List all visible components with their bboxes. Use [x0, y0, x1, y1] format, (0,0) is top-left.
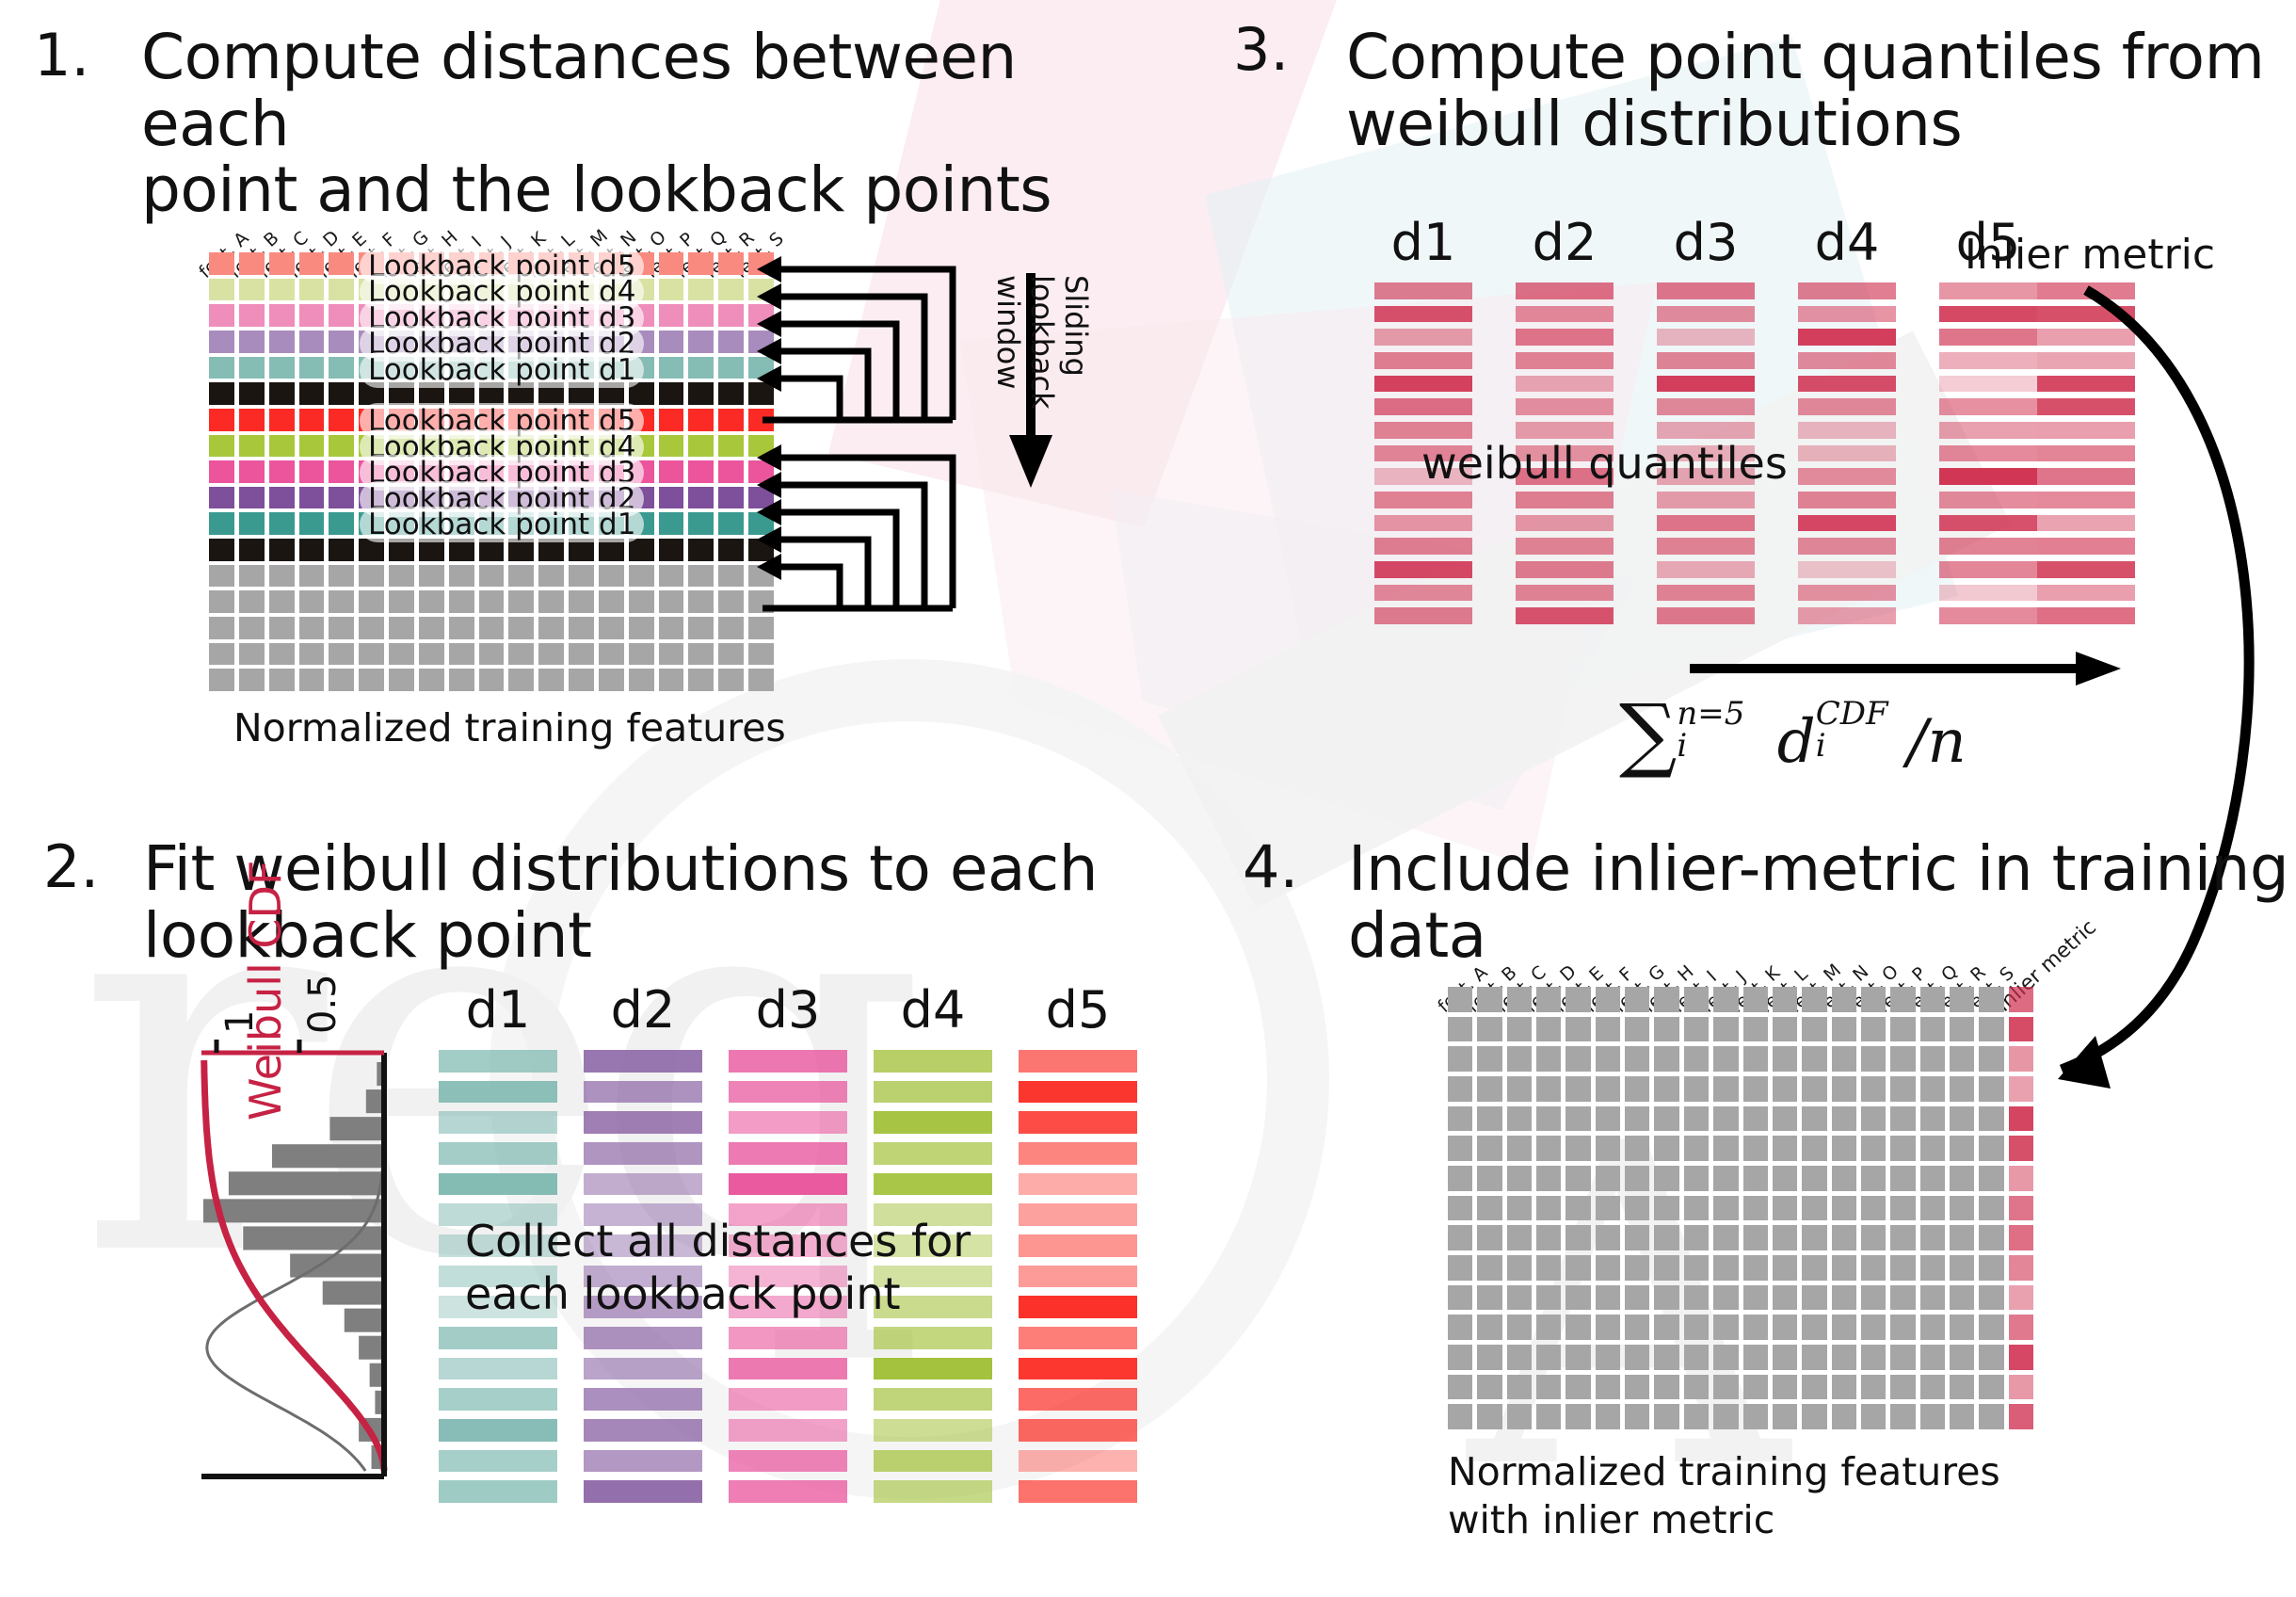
grid-cell	[329, 435, 354, 458]
grid-cell	[329, 617, 354, 639]
lookback-point-tag: Lookback point d1	[360, 352, 644, 388]
quantile-bar	[1939, 515, 2037, 532]
quantile-bar	[1374, 515, 1472, 532]
grid-cell	[659, 252, 684, 275]
grid-cell	[538, 565, 564, 588]
grid-cell	[269, 590, 295, 613]
step-3-number: 3.	[1233, 21, 1289, 79]
grid-cell	[299, 304, 325, 327]
grid-cell	[718, 669, 744, 691]
grid-cell	[479, 590, 505, 613]
grid-cell	[1979, 1285, 2003, 1311]
grid-cell	[1743, 1345, 1768, 1370]
weibull-cdf-axis-label: Weibull CDF	[240, 861, 291, 1121]
quantile-bar	[1657, 492, 1755, 508]
quantile-bar	[1516, 398, 1614, 415]
grid-cell	[1477, 1076, 1501, 1102]
quantile-bar	[1939, 561, 2037, 578]
grid-cell	[1565, 987, 1590, 1012]
sum-upper-limit: n=5	[1677, 698, 1744, 730]
grid-cell	[1684, 1166, 1709, 1191]
quantile-bar	[1374, 329, 1472, 346]
grid-cell	[1565, 1315, 1590, 1340]
distance-bar	[1019, 1203, 1137, 1226]
grid-cell	[329, 279, 354, 301]
quantile-bar	[1516, 376, 1614, 393]
quantile-column-label-d2: d2	[1516, 213, 1614, 272]
quantile-bar	[1798, 445, 1896, 462]
grid-cell	[629, 669, 654, 691]
distance-bar	[1019, 1234, 1137, 1257]
grid-cell	[1802, 1255, 1826, 1281]
grid-cell	[239, 279, 265, 301]
grid-cell	[1625, 1225, 1649, 1250]
grid-cell	[1654, 1404, 1678, 1429]
grid-cell	[1507, 1375, 1532, 1400]
panel1-caption-line-1: Normalized training features	[233, 704, 817, 752]
quantile-bar	[1374, 561, 1472, 578]
quantile-bar	[1939, 352, 2037, 369]
grid-cell	[688, 487, 714, 509]
grid-cell	[1625, 1106, 1649, 1132]
inlier-metric-cell	[2009, 1017, 2033, 1042]
grid-cell	[1448, 1046, 1472, 1072]
grid-cell	[1477, 987, 1501, 1012]
quantile-bar	[1798, 607, 1896, 624]
grid-cell	[1920, 1136, 1945, 1161]
quantile-column-d4	[1798, 282, 1896, 631]
grid-cell	[1477, 1196, 1501, 1221]
grid-cell	[239, 435, 265, 458]
grid-cell	[1565, 1404, 1590, 1429]
distance-bar	[584, 1450, 702, 1473]
grid-cell	[1802, 1315, 1826, 1340]
grid-cell	[1773, 1285, 1797, 1311]
grid-cell	[1448, 1017, 1472, 1042]
grid-cell	[1890, 1136, 1915, 1161]
grid-cell	[299, 565, 325, 588]
grid-cell	[1920, 1255, 1945, 1281]
distance-bar	[439, 1081, 557, 1104]
grid-cell	[1448, 1076, 1472, 1102]
grid-cell	[688, 590, 714, 613]
grid-cell	[269, 617, 295, 639]
grid-cell	[1773, 1017, 1797, 1042]
grid-cell	[718, 435, 744, 458]
grid-cell	[299, 382, 325, 405]
grid-cell	[1890, 1315, 1915, 1340]
grid-cell	[449, 643, 474, 666]
grid-cell	[239, 669, 265, 691]
grid-cell	[659, 512, 684, 535]
grid-cell	[209, 590, 234, 613]
grid-cell	[1979, 1345, 2003, 1370]
grid-cell	[1832, 1375, 1856, 1400]
grid-cell	[1477, 1017, 1501, 1042]
quantile-column-d5	[1939, 282, 2037, 631]
grid-cell	[1890, 1106, 1915, 1132]
grid-cell	[1890, 1225, 1915, 1250]
grid-cell	[389, 643, 414, 666]
quantile-bar	[1798, 329, 1896, 346]
quantile-bar	[1657, 376, 1755, 393]
panel2-overlay-line-1: Collect all distances for	[465, 1215, 971, 1267]
quantile-bar	[1939, 468, 2037, 485]
grid-cell	[629, 617, 654, 639]
grid-cell	[1536, 1046, 1561, 1072]
grid-cell	[299, 252, 325, 275]
step-3-title-line-1: Compute point quantiles from	[1346, 24, 2288, 91]
grid-cell	[269, 331, 295, 353]
grid-cell	[1950, 1255, 1974, 1281]
distance-bar	[1019, 1327, 1137, 1349]
sliding-window-label-line-3: window	[991, 275, 1025, 410]
grid-cell	[1625, 1196, 1649, 1221]
grid-cell	[1979, 1046, 2003, 1072]
formula-tail: /n	[1907, 707, 1967, 777]
grid-cell	[1713, 1076, 1738, 1102]
grid-cell	[299, 617, 325, 639]
grid-cell	[1832, 1225, 1856, 1250]
grid-cell	[1596, 1255, 1620, 1281]
grid-cell	[1802, 1404, 1826, 1429]
inlier-metric-cell	[2009, 1196, 2033, 1221]
inlier-metric-cell	[2009, 1375, 2033, 1400]
grid-cell	[1802, 1345, 1826, 1370]
grid-cell	[1979, 1315, 2003, 1340]
grid-cell	[1654, 1017, 1678, 1042]
quantile-bar	[1374, 398, 1472, 415]
grid-cell	[1890, 987, 1915, 1012]
quantile-bar	[1939, 329, 2037, 346]
inlier-metric-cell	[2009, 1404, 2033, 1429]
grid-cell	[299, 331, 325, 353]
grid-cell	[1713, 1404, 1738, 1429]
grid-cell	[1890, 1375, 1915, 1400]
distance-bar	[729, 1358, 847, 1380]
grid-cell	[329, 565, 354, 588]
grid-cell	[1507, 1076, 1532, 1102]
histogram-bar	[345, 1309, 384, 1332]
grid-cell	[508, 669, 534, 691]
quantile-bar	[1374, 492, 1472, 508]
quantile-column-label-d1: d1	[1374, 213, 1472, 272]
inlier-metric-cell	[2009, 1255, 2033, 1281]
grid-cell	[299, 512, 325, 535]
grid-cell	[1861, 1225, 1886, 1250]
grid-cell	[1596, 1076, 1620, 1102]
grid-cell	[1684, 1345, 1709, 1370]
grid-cell	[1713, 1046, 1738, 1072]
column-label-d5: d5	[1019, 980, 1137, 1040]
grid-cell	[329, 382, 354, 405]
quantile-bar	[1516, 538, 1614, 555]
grid-cell	[1920, 1225, 1945, 1250]
grid-cell	[1536, 987, 1561, 1012]
grid-cell	[1890, 1046, 1915, 1072]
grid-cell	[718, 409, 744, 431]
grid-cell	[1861, 1375, 1886, 1400]
grid-cell	[299, 435, 325, 458]
grid-cell	[329, 539, 354, 561]
panel2-overlay-line-2: each lookback point	[465, 1267, 971, 1320]
grid-cell	[329, 409, 354, 431]
quantile-bar	[1657, 306, 1755, 323]
grid-cell	[659, 487, 684, 509]
inlier-metric-cell	[2009, 1106, 2033, 1132]
grid-cell	[1684, 1255, 1709, 1281]
grid-cell	[1625, 1285, 1649, 1311]
distance-bar	[439, 1480, 557, 1503]
distance-bar	[1019, 1266, 1137, 1288]
grid-cell	[1654, 1375, 1678, 1400]
distance-bar	[584, 1419, 702, 1442]
inlier-metric-cell	[2009, 1285, 2033, 1311]
grid-cell	[1890, 1404, 1915, 1429]
grid-cell	[1832, 1046, 1856, 1072]
grid-cell	[659, 669, 684, 691]
grid-cell	[1684, 1017, 1709, 1042]
grid-cell	[718, 643, 744, 666]
grid-cell	[1536, 1017, 1561, 1042]
quantile-bar	[1516, 585, 1614, 602]
grid-cell	[1713, 1166, 1738, 1191]
histogram-bar	[323, 1282, 384, 1305]
grid-cell	[1920, 1076, 1945, 1102]
grid-cell	[269, 279, 295, 301]
panel4-caption-line-1: Normalized training features	[1448, 1448, 2107, 1496]
grid-cell	[1743, 1106, 1768, 1132]
grid-cell	[1596, 1375, 1620, 1400]
grid-cell	[1507, 1285, 1532, 1311]
grid-cell	[1861, 987, 1886, 1012]
quantile-bar	[1798, 468, 1896, 485]
grid-cell	[718, 252, 744, 275]
grid-cell	[1565, 1106, 1590, 1132]
grid-cell	[538, 617, 564, 639]
quantile-bar	[1798, 352, 1896, 369]
grid-cell	[1448, 1136, 1472, 1161]
grid-cell	[718, 565, 744, 588]
grid-cell	[1565, 1196, 1590, 1221]
grid-cell	[1890, 1076, 1915, 1102]
grid-cell	[1713, 1285, 1738, 1311]
grid-cell	[209, 565, 234, 588]
distance-bar	[729, 1142, 847, 1165]
grid-cell	[209, 252, 234, 275]
grid-cell	[239, 487, 265, 509]
panel4-caption: Normalized training featureswith inlier …	[1448, 1448, 2107, 1545]
grid-cell	[1890, 1017, 1915, 1042]
grid-cell	[688, 252, 714, 275]
grid-cell	[1950, 1225, 1974, 1250]
distance-bar	[874, 1358, 992, 1380]
distance-bar	[874, 1327, 992, 1349]
grid-cell	[1832, 1285, 1856, 1311]
grid-cell	[1713, 987, 1738, 1012]
grid-cell	[299, 669, 325, 691]
quantile-bar	[1657, 585, 1755, 602]
inlier-metric-cell	[2009, 1315, 2033, 1340]
distance-bar	[584, 1081, 702, 1104]
grid-cell	[1979, 1076, 2003, 1102]
quantile-bar	[1657, 561, 1755, 578]
quantile-bar	[1657, 538, 1755, 555]
grid-cell	[1565, 1017, 1590, 1042]
grid-cell	[1890, 1196, 1915, 1221]
grid-cell	[569, 565, 594, 588]
inlier-metric-cell	[2009, 1225, 2033, 1250]
grid-cell	[209, 331, 234, 353]
panel4-feature-grid	[1448, 987, 2033, 1429]
grid-cell	[1565, 1255, 1590, 1281]
grid-cell	[659, 565, 684, 588]
quantile-bar	[1939, 445, 2037, 462]
grid-cell	[688, 435, 714, 458]
grid-cell	[449, 617, 474, 639]
grid-cell	[538, 669, 564, 691]
grid-cell	[1979, 1255, 2003, 1281]
grid-cell	[1507, 1136, 1532, 1161]
quantile-bar	[1657, 329, 1755, 346]
grid-cell	[1950, 1404, 1974, 1429]
quantile-bar	[1939, 398, 2037, 415]
distance-bar	[729, 1419, 847, 1442]
grid-cell	[299, 409, 325, 431]
grid-cell	[389, 565, 414, 588]
grid-cell	[1684, 1315, 1709, 1340]
grid-cell	[329, 590, 354, 613]
grid-cell	[1684, 1136, 1709, 1161]
grid-cell	[239, 539, 265, 561]
distance-column-d5	[1019, 1050, 1137, 1511]
grid-cell	[1565, 1076, 1590, 1102]
grid-cell	[688, 460, 714, 483]
distance-bar	[874, 1050, 992, 1073]
grid-cell	[1654, 1315, 1678, 1340]
distance-bar	[1019, 1081, 1137, 1104]
grid-cell	[209, 669, 234, 691]
step-3-title-line-2: weibull distributions	[1346, 91, 2288, 158]
grid-cell	[239, 382, 265, 405]
distance-bar	[874, 1450, 992, 1473]
grid-cell	[569, 643, 594, 666]
grid-cell	[299, 279, 325, 301]
grid-cell	[239, 304, 265, 327]
grid-cell	[299, 539, 325, 561]
grid-cell	[1536, 1166, 1561, 1191]
quantile-column-label-d4: d4	[1798, 213, 1896, 272]
grid-cell	[1743, 1196, 1768, 1221]
quantile-bar	[1374, 538, 1472, 555]
grid-cell	[1625, 1315, 1649, 1340]
distance-bar	[584, 1142, 702, 1165]
grid-cell	[1596, 1285, 1620, 1311]
grid-cell	[1773, 1404, 1797, 1429]
grid-cell	[419, 643, 444, 666]
grid-cell	[299, 643, 325, 666]
quantile-bar	[1516, 422, 1614, 439]
grid-cell	[1448, 1404, 1472, 1429]
grid-cell	[718, 357, 744, 379]
grid-cell	[1802, 1166, 1826, 1191]
grid-cell	[1920, 1285, 1945, 1311]
grid-cell	[1861, 1255, 1886, 1281]
distance-bar	[874, 1081, 992, 1104]
quantile-bar	[1657, 515, 1755, 532]
grid-cell	[508, 643, 534, 666]
grid-cell	[659, 382, 684, 405]
grid-cell	[1920, 987, 1945, 1012]
weibull-cdf-plot	[188, 1036, 405, 1488]
grid-cell	[1448, 1255, 1472, 1281]
grid-cell	[1802, 1196, 1826, 1221]
grid-cell	[1507, 1404, 1532, 1429]
grid-cell	[1536, 1404, 1561, 1429]
inlier-metric-cell	[2009, 1076, 2033, 1102]
step-1-title: Compute distances between eachpoint and …	[141, 24, 1120, 224]
grid-cell	[1979, 1106, 2003, 1132]
grid-cell	[688, 643, 714, 666]
grid-cell	[1565, 1046, 1590, 1072]
grid-cell	[1596, 1136, 1620, 1161]
grid-cell	[718, 590, 744, 613]
grid-cell	[1861, 1076, 1886, 1102]
grid-cell	[1950, 1046, 1974, 1072]
inlier-metric-cell	[2009, 1136, 2033, 1161]
grid-cell	[508, 565, 534, 588]
grid-cell	[629, 590, 654, 613]
grid-cell	[1802, 1076, 1826, 1102]
grid-cell	[269, 487, 295, 509]
grid-cell	[1596, 1017, 1620, 1042]
grid-cell	[659, 279, 684, 301]
distance-bar	[1019, 1173, 1137, 1196]
grid-cell	[1743, 1255, 1768, 1281]
grid-cell	[508, 590, 534, 613]
grid-cell	[239, 590, 265, 613]
distance-bar	[874, 1173, 992, 1196]
grid-cell	[209, 512, 234, 535]
grid-cell	[389, 669, 414, 691]
distance-bar	[439, 1419, 557, 1442]
quantile-bar	[1516, 352, 1614, 369]
grid-cell	[329, 331, 354, 353]
grid-cell	[1448, 1285, 1472, 1311]
grid-cell	[1861, 1106, 1886, 1132]
grid-cell	[1743, 1285, 1768, 1311]
grid-cell	[1950, 1375, 1974, 1400]
grid-cell	[299, 357, 325, 379]
grid-cell	[569, 590, 594, 613]
grid-cell	[659, 435, 684, 458]
grid-cell	[419, 669, 444, 691]
grid-cell	[1773, 1046, 1797, 1072]
grid-cell	[269, 512, 295, 535]
grid-cell	[688, 539, 714, 561]
grid-cell	[269, 435, 295, 458]
grid-cell	[1654, 1225, 1678, 1250]
grid-cell	[1625, 987, 1649, 1012]
quantile-bar	[1516, 329, 1614, 346]
grid-cell	[1448, 987, 1472, 1012]
formula-d-superscript: CDF	[1816, 698, 1888, 730]
grid-cell	[1743, 1166, 1768, 1191]
grid-cell	[1861, 1017, 1886, 1042]
grid-cell	[599, 617, 624, 639]
grid-cell	[659, 331, 684, 353]
grid-cell	[449, 669, 474, 691]
